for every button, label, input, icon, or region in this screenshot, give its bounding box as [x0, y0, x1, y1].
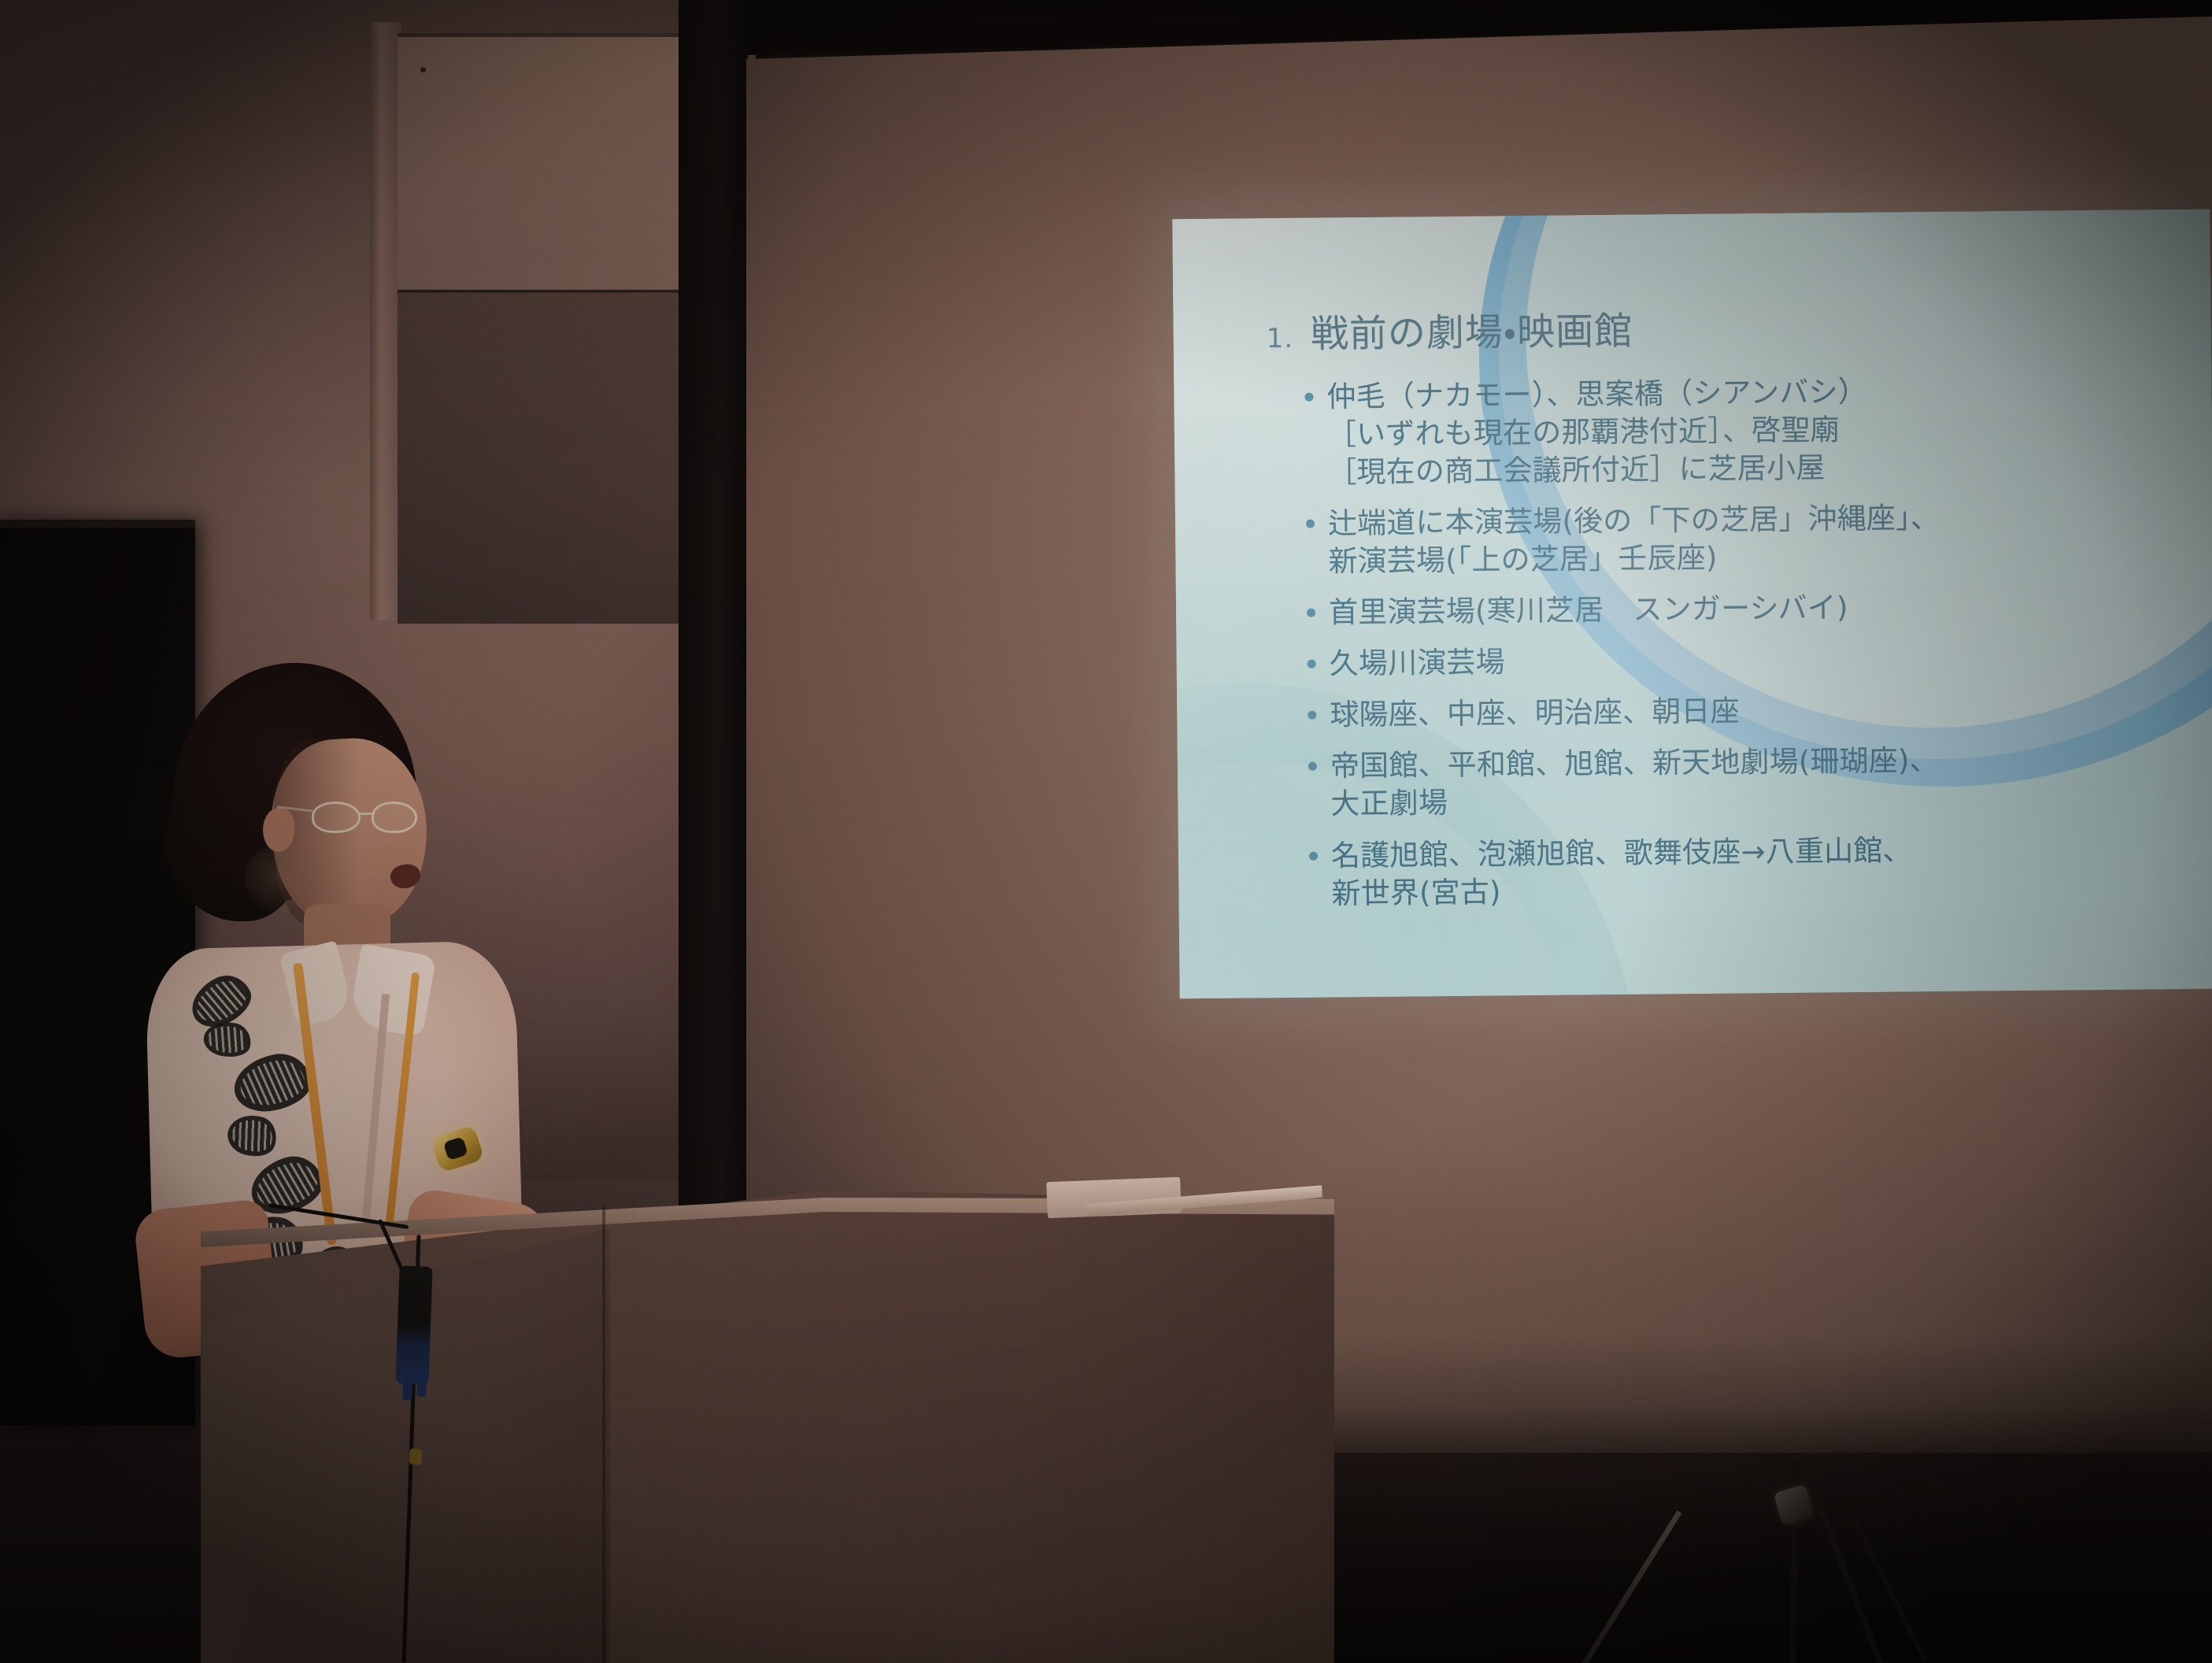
wall-panel-screw — [420, 67, 426, 72]
lectern-corner-edge — [602, 1205, 605, 1663]
presentation-photo: 1. 戦前の劇場・映画館 仲毛（ナカモー）、思案橋（シアンバシ） ［いずれも現在… — [0, 0, 2212, 1663]
loudspeaker-cabinet-top — [0, 520, 195, 528]
slide-canvas: 1. 戦前の劇場・映画館 仲毛（ナカモー）、思案橋（シアンバシ） ［いずれも現在… — [1172, 209, 2212, 999]
eyeglass-bridge — [359, 813, 375, 815]
slide-bullet-list: 仲毛（ナカモー）、思案橋（シアンバシ） ［いずれも現在の那覇港付近］、啓聖廟 ［… — [1267, 370, 2173, 913]
cable-connector-pin — [416, 1369, 427, 1397]
cable-clip — [409, 1449, 422, 1465]
slide-title-number: 1. — [1267, 323, 1294, 355]
cable-connector-box — [395, 1265, 432, 1384]
eyeglass-lens-left — [312, 802, 361, 833]
slide-bullet: 首里演芸場(寒川芝居 スンガーシバイ) — [1305, 586, 2171, 632]
cable-connector-pin — [402, 1369, 412, 1400]
slide-content: 1. 戦前の劇場・映画館 仲毛（ナカモー）、思案橋（シアンバシ） ［いずれも現在… — [1172, 209, 2212, 999]
wall-panel-upper — [398, 33, 701, 293]
slide-bullet: 名護旭館、泡瀬旭館、歌舞伎座→八重山館、 新世界(宮古) — [1308, 829, 2174, 913]
slide-bullet: 球陽座、中座、明治座、朝日座 — [1306, 688, 2172, 735]
leaf-motif — [230, 1049, 316, 1117]
slide-bullet: 辻端道に本演芸場(後の「下の芝居」沖縄座」、 新演芸場(「上の芝居」壬辰座) — [1304, 497, 2171, 581]
slide-title-row: 1. 戦前の劇場・映画館 — [1266, 304, 2169, 358]
dark-column — [679, 0, 748, 1394]
slide-bullet: 久場川演芸場 — [1305, 637, 2171, 683]
wristwatch-face — [443, 1136, 468, 1161]
slide-bullet: 仲毛（ナカモー）、思案橋（シアンバシ） ［いずれも現在の那覇港付近］、啓聖廟 ［… — [1303, 370, 2169, 492]
shirt-faded-motif — [244, 843, 331, 915]
wall-panel-lower — [398, 293, 701, 624]
eyeglass-lens-right — [372, 802, 417, 833]
eyeglasses — [312, 802, 431, 836]
leaf-motif — [224, 1109, 282, 1162]
wall-panel-frame — [370, 22, 401, 620]
projected-slide: 1. 戦前の劇場・映画館 仲毛（ナカモー）、思案橋（シアンバシ） ［いずれも現在… — [1172, 209, 2212, 999]
slide-title-text: 戦前の劇場・映画館 — [1311, 309, 1633, 358]
slide-bullet: 帝国館、平和館、旭館、新天地劇場(珊瑚座)、 大正劇場 — [1307, 740, 2173, 824]
